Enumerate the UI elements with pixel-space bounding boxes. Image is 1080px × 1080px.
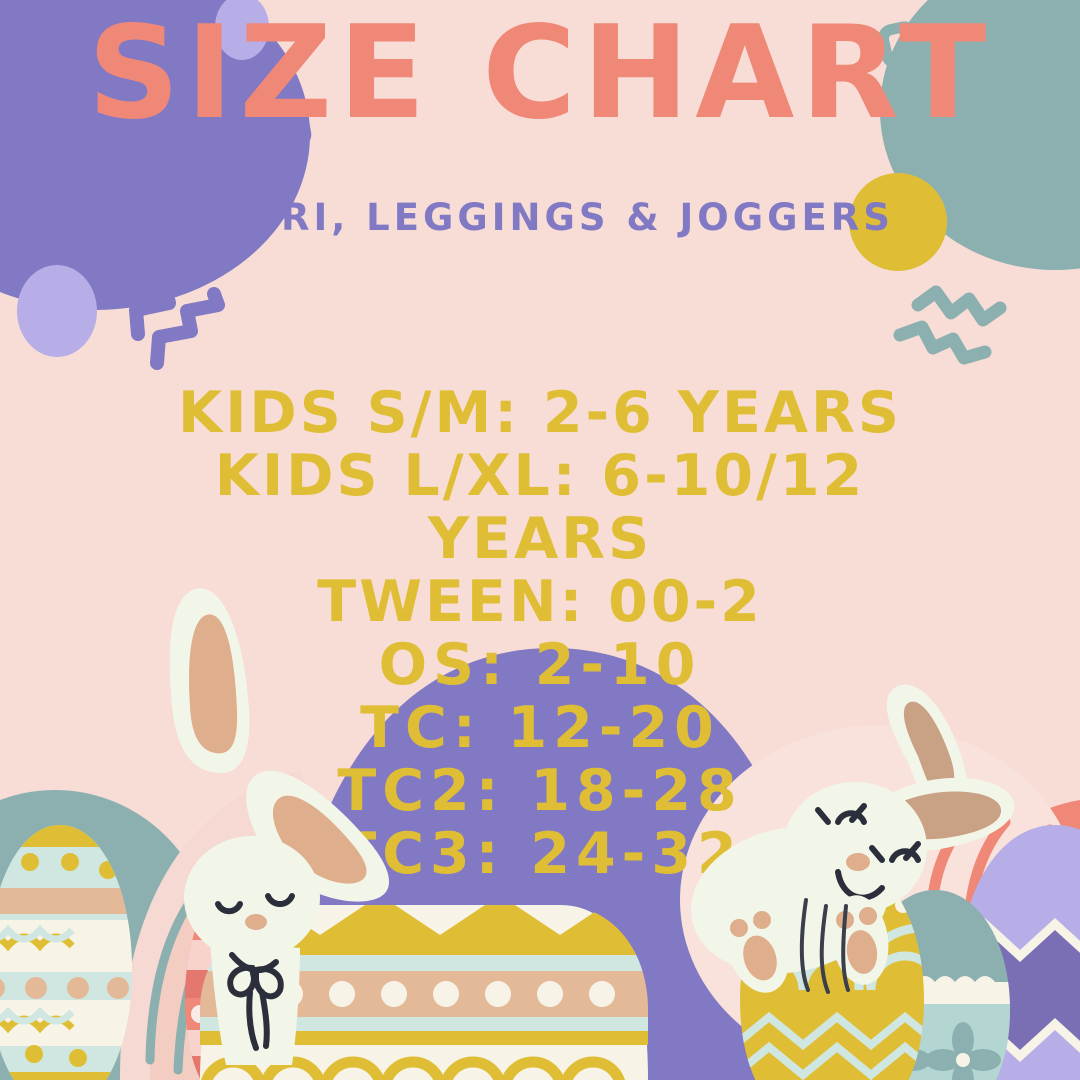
page-subtitle: CAPRI, LEGGINGS & JOGGERS	[0, 196, 1080, 239]
size-line: TC2: 18-28	[0, 760, 1080, 823]
size-line: OS: 2-10	[0, 634, 1080, 697]
size-line: KIDS L/XL: 6-10/12	[0, 445, 1080, 508]
size-line: KIDS S/M: 2-6 YEARS	[0, 382, 1080, 445]
size-line: TC: 12-20	[0, 697, 1080, 760]
size-chart-poster: SIZE CHART CAPRI, LEGGINGS & JOGGERS KID…	[0, 0, 1080, 1080]
text-content: SIZE CHART CAPRI, LEGGINGS & JOGGERS KID…	[0, 0, 1080, 1080]
size-list: KIDS S/M: 2-6 YEARS KIDS L/XL: 6-10/12 Y…	[0, 382, 1080, 886]
size-line: TC3: 24-32	[0, 823, 1080, 886]
size-line: TWEEN: 00-2	[0, 571, 1080, 634]
page-title: SIZE CHART	[0, 10, 1080, 138]
size-line: YEARS	[0, 508, 1080, 571]
